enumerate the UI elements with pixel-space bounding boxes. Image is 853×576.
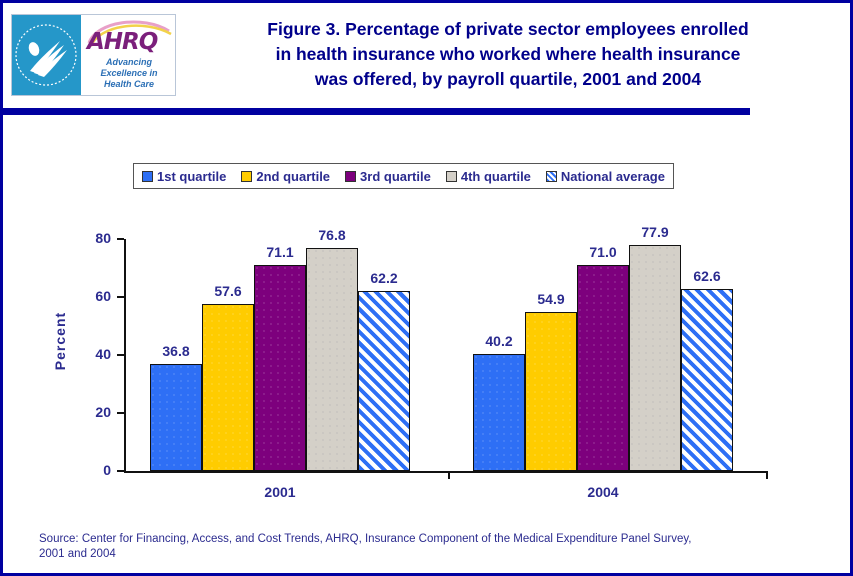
bar-value-label: 71.0: [573, 244, 633, 260]
bar-value-label: 62.6: [677, 268, 737, 284]
y-axis-line: [124, 239, 126, 472]
bar-2001-1st-quartile: [150, 364, 202, 471]
y-axis-tick-label: 40: [71, 346, 111, 362]
bar-2004-2nd-quartile: [525, 312, 577, 471]
y-axis-title: Percent: [52, 281, 68, 401]
source-note: Source: Center for Financing, Access, an…: [39, 532, 819, 562]
x-axis-line: [124, 471, 766, 473]
x-axis-tick: [448, 471, 450, 479]
y-axis-tick-label: 20: [71, 404, 111, 420]
y-axis-tick-label: 60: [71, 288, 111, 304]
bar-2001-2nd-quartile: [202, 304, 254, 471]
y-axis-tick-label: 80: [71, 230, 111, 246]
y-axis-tick: [117, 296, 124, 298]
chart-plot-area: Percent 02040608036.857.671.176.862.2200…: [3, 3, 850, 573]
x-axis-tick: [766, 471, 768, 479]
bar-value-label: 71.1: [250, 244, 310, 260]
y-axis-tick: [117, 354, 124, 356]
y-axis-tick: [117, 238, 124, 240]
bar-value-label: 57.6: [198, 283, 258, 299]
bar-2004-national-average: [681, 289, 733, 471]
x-axis-category-label: 2004: [543, 484, 663, 500]
bar-2001-3rd-quartile: [254, 265, 306, 471]
bar-2004-4th-quartile: [629, 245, 681, 471]
y-axis-tick: [117, 412, 124, 414]
bar-2004-3rd-quartile: [577, 265, 629, 471]
bar-value-label: 40.2: [469, 333, 529, 349]
bar-value-label: 36.8: [146, 343, 206, 359]
bar-value-label: 76.8: [302, 227, 362, 243]
source-line1: Source: Center for Financing, Access, an…: [39, 532, 819, 547]
bar-value-label: 54.9: [521, 291, 581, 307]
y-axis-tick-label: 0: [71, 462, 111, 478]
source-line2: 2001 and 2004: [39, 547, 819, 562]
bar-value-label: 77.9: [625, 224, 685, 240]
bar-2001-4th-quartile: [306, 248, 358, 471]
y-axis-tick: [117, 470, 124, 472]
figure-page: AHRQ Advancing Excellence in Health Care…: [0, 0, 853, 576]
bar-value-label: 62.2: [354, 270, 414, 286]
bar-2001-national-average: [358, 291, 410, 471]
bar-2004-1st-quartile: [473, 354, 525, 471]
x-axis-category-label: 2001: [220, 484, 340, 500]
